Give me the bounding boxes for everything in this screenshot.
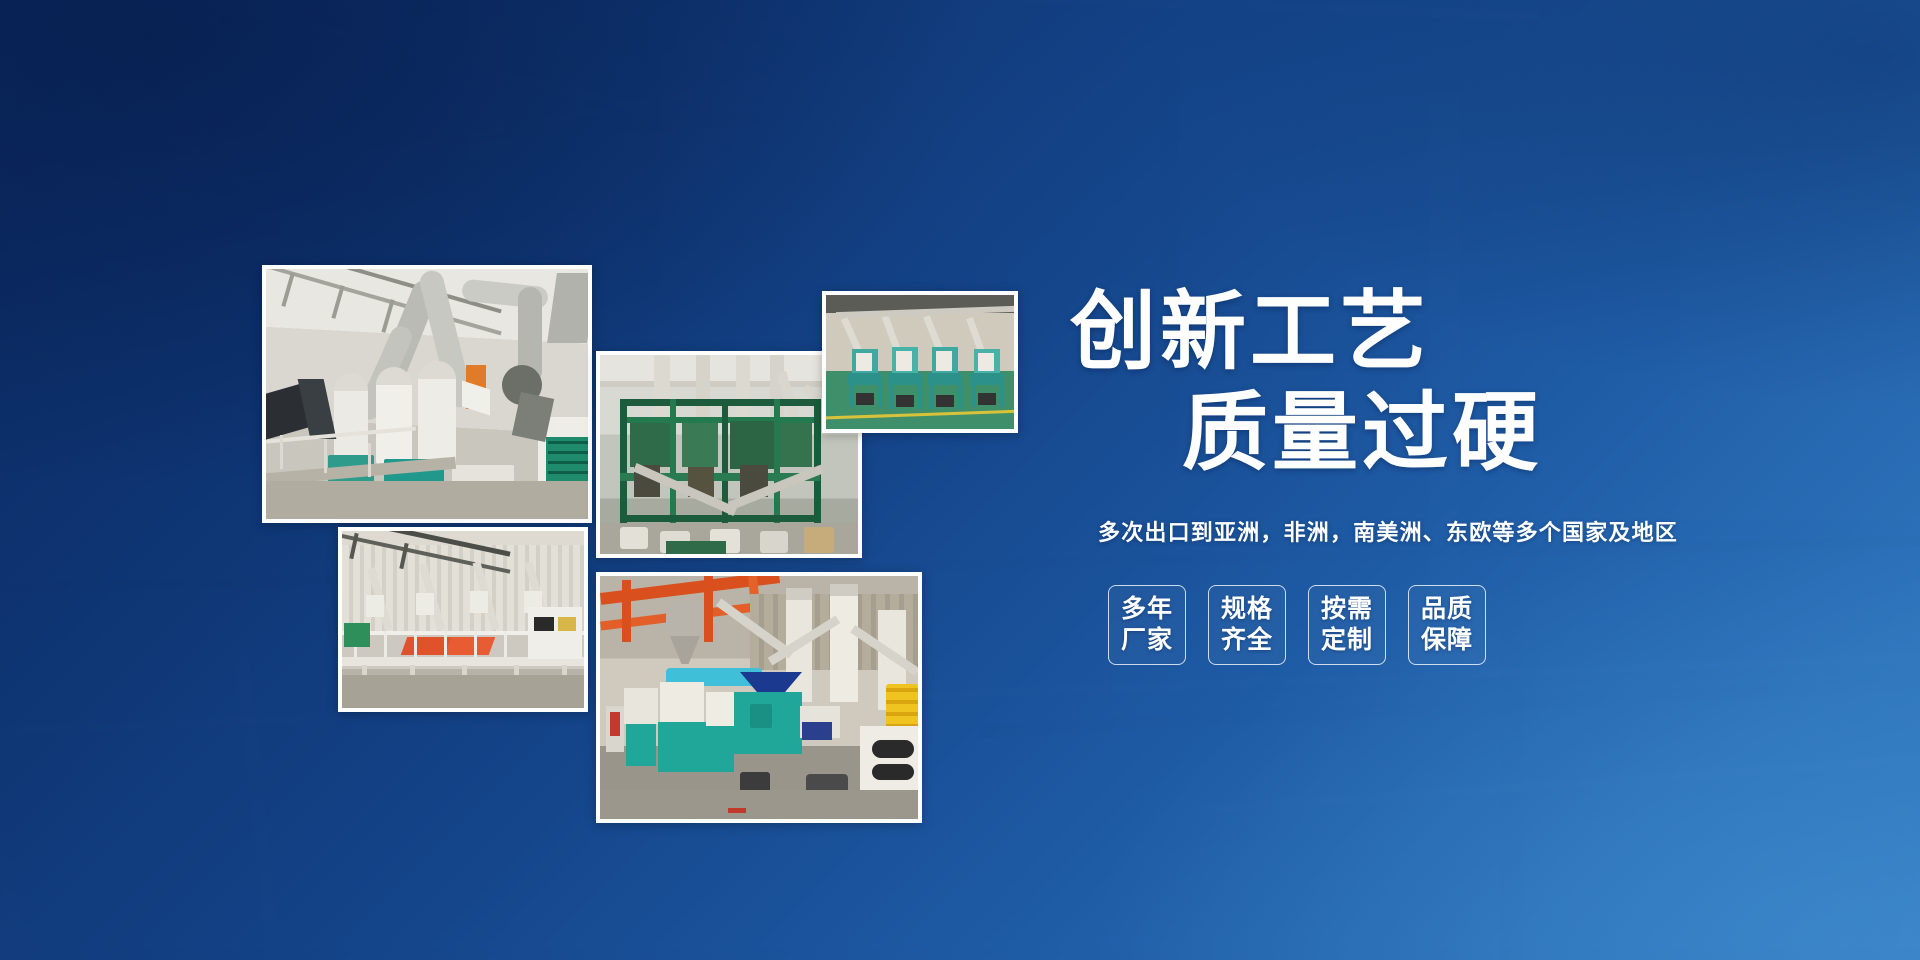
- badge-line-top: 按需: [1321, 594, 1373, 625]
- badge-line-bottom: 保障: [1421, 625, 1473, 656]
- badge-line-top: 品质: [1421, 594, 1473, 625]
- promo-banner: 创新工艺 质量过硬 多次出口到亚洲，非洲，南美洲、东欧等多个国家及地区 多年 厂…: [0, 0, 1920, 960]
- badge-line-top: 规格: [1221, 594, 1273, 625]
- feature-badge-years-manufacturer[interactable]: 多年 厂家: [1108, 585, 1186, 665]
- headline-line-1: 创新工艺: [1070, 282, 1770, 383]
- collage-photo-grain-milling-line[interactable]: [262, 265, 592, 523]
- banner-copy: 创新工艺 质量过硬 多次出口到亚洲，非洲，南美洲、东欧等多个国家及地区 多年 厂…: [1070, 282, 1770, 665]
- badge-line-bottom: 定制: [1321, 625, 1373, 656]
- collage-photo-white-processing-line[interactable]: [338, 527, 588, 712]
- banner-subtitle: 多次出口到亚洲，非洲，南美洲、东欧等多个国家及地区: [1070, 515, 1770, 547]
- collage-photo-teal-flour-mill[interactable]: [596, 572, 922, 823]
- badge-line-bottom: 厂家: [1121, 625, 1173, 656]
- headline-line-2: 质量过硬: [1070, 383, 1770, 484]
- collage-photo-teal-machines-workshop[interactable]: [822, 291, 1018, 433]
- feature-badge-list: 多年 厂家 规格 齐全 按需 定制 品质 保障: [1070, 585, 1770, 665]
- feature-badge-quality-guarantee[interactable]: 品质 保障: [1408, 585, 1486, 665]
- badge-line-bottom: 齐全: [1221, 625, 1273, 656]
- feature-badge-custom-made[interactable]: 按需 定制: [1308, 585, 1386, 665]
- feature-badge-full-specs[interactable]: 规格 齐全: [1208, 585, 1286, 665]
- badge-line-top: 多年: [1121, 594, 1173, 625]
